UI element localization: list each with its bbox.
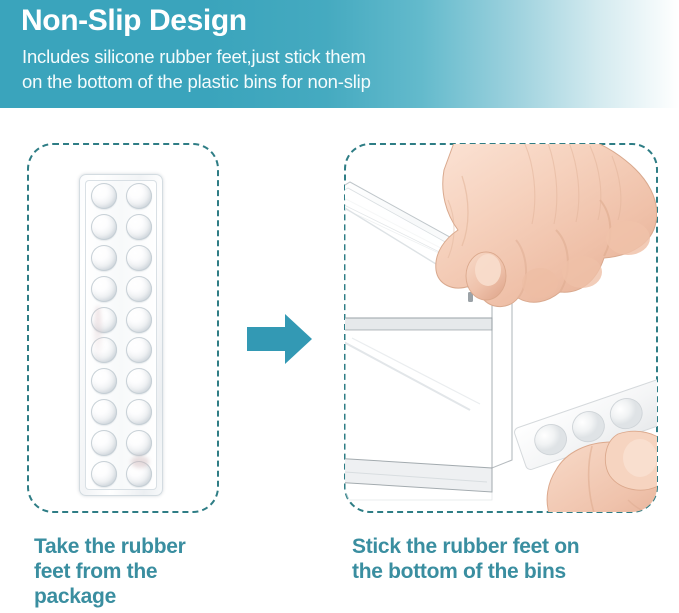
rubber-foot — [126, 430, 152, 456]
header-banner: Non-Slip Design Includes silicone rubber… — [0, 0, 679, 108]
rubber-foot — [91, 399, 117, 425]
package-smudge — [94, 306, 102, 366]
rubber-foot — [126, 214, 152, 240]
panel-right-application — [344, 143, 658, 513]
rubber-foot — [126, 307, 152, 333]
rubber-foot — [91, 214, 117, 240]
rubber-foot — [126, 337, 152, 363]
rubber-foot — [126, 368, 152, 394]
rubber-foot — [91, 430, 117, 456]
package-smudge — [131, 456, 149, 468]
blister-pack — [79, 174, 163, 496]
page-title: Non-Slip Design — [21, 3, 247, 39]
caption-right-line-2: the bottom of the bins — [352, 559, 652, 584]
rubber-foot — [91, 245, 117, 271]
header-subtitle-line-1: Includes silicone rubber feet,just stick… — [22, 46, 366, 67]
rubber-foot — [126, 245, 152, 271]
rubber-foot — [91, 368, 117, 394]
caption-right-line-1: Stick the rubber feet on — [352, 534, 652, 559]
caption-left-line-1: Take the rubber — [34, 534, 249, 559]
rubber-foot — [91, 461, 117, 487]
rubber-foot — [91, 183, 117, 209]
header-subtitle-line-2: on the bottom of the plastic bins for no… — [22, 69, 371, 94]
flow-arrow-icon — [247, 313, 312, 365]
caption-left-line-2: feet from the — [34, 559, 249, 584]
rubber-foot — [91, 276, 117, 302]
rubber-foot — [126, 276, 152, 302]
header-subtitle: Includes silicone rubber feet,just stick… — [22, 44, 371, 94]
rubber-foot — [126, 399, 152, 425]
caption-left-line-3: package — [34, 584, 249, 609]
caption-right: Stick the rubber feet on the bottom of t… — [352, 534, 652, 584]
caption-left: Take the rubber feet from the package — [34, 534, 249, 609]
rubber-foot — [126, 183, 152, 209]
